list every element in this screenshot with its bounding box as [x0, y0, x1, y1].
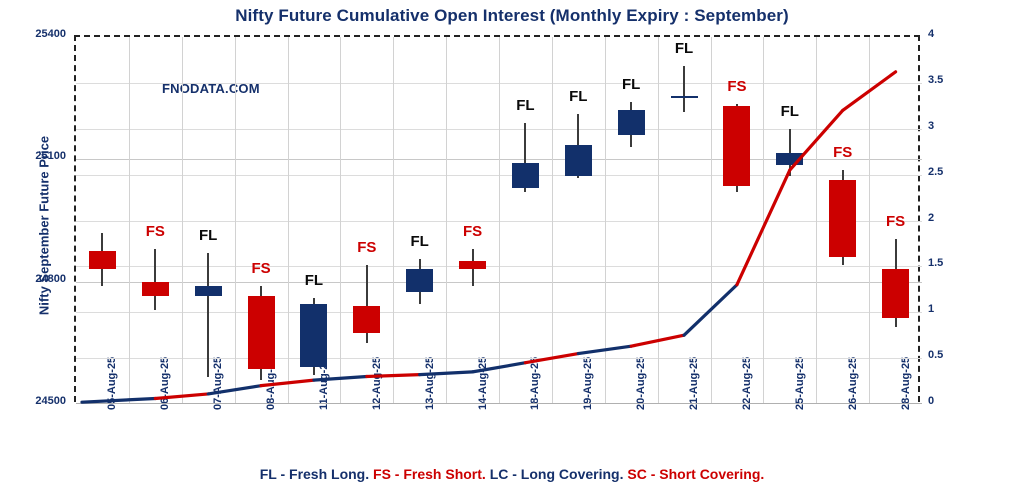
y-axis-right-tick: 2.5	[928, 166, 943, 178]
y-axis-right-tick: 4	[928, 28, 934, 40]
candle-tag-fl: FL	[606, 76, 656, 93]
oi-line-segment	[578, 346, 631, 353]
candle-tag-fs: FS	[236, 260, 286, 277]
candle-tag-fs: FS	[871, 213, 921, 230]
plot-area: FNODATA.COM FSFLFSFLFSFLFSFLFLFLFLFSFLFS…	[74, 35, 920, 402]
oi-line-segment	[684, 285, 737, 335]
open-interest-line-series	[76, 37, 922, 404]
candle-tag-fl: FL	[395, 233, 445, 250]
footer-legend-part: SC - Short Covering.	[627, 466, 764, 482]
y-axis-right-tick: 3.5	[928, 74, 943, 86]
candle-tag-fl: FL	[289, 272, 339, 289]
oi-line-segment	[843, 72, 896, 111]
candle-tag-fl: FL	[183, 227, 233, 244]
oi-line-segment	[737, 170, 790, 285]
candle-tag-fs: FS	[818, 144, 868, 161]
footer-legend-part: FS - Fresh Short.	[373, 466, 490, 482]
y-axis-right-tick: 0	[928, 395, 934, 407]
chart-root: Nifty Future Cumulative Open Interest (M…	[0, 0, 1024, 490]
y-axis-right-tick: 1	[928, 303, 934, 315]
candle-tag-fl: FL	[765, 103, 815, 120]
y-axis-left-tick: 25100	[2, 150, 66, 162]
candle-tag-fl: FL	[500, 97, 550, 114]
oi-line-segment	[261, 380, 314, 386]
y-axis-right-tick: 0.5	[928, 349, 943, 361]
y-axis-left-tick: 24500	[2, 395, 66, 407]
oi-line-segment	[208, 386, 261, 394]
footer-legend-part: LC - Long Covering.	[490, 466, 628, 482]
oi-line-segment	[473, 363, 526, 372]
y-axis-right-tick: 1.5	[928, 257, 943, 269]
oi-line-segment	[367, 375, 420, 377]
footer-legend-part: FL - Fresh Long.	[260, 466, 373, 482]
oi-line-segment	[82, 398, 155, 402]
y-axis-left-title: Nifty September Future Price	[37, 106, 52, 346]
candle-tag-fs: FS	[130, 223, 180, 240]
y-axis-right-tick: 2	[928, 212, 934, 224]
candle-tag-fs: FS	[342, 239, 392, 256]
oi-line-segment	[420, 372, 473, 375]
oi-line-segment	[155, 394, 208, 399]
y-axis-left-tick: 25400	[2, 28, 66, 40]
y-axis-left-tick: 24800	[2, 273, 66, 285]
oi-line-segment	[314, 376, 367, 380]
footer-legend: FL - Fresh Long. FS - Fresh Short. LC - …	[0, 466, 1024, 482]
oi-line-segment	[525, 354, 578, 363]
candle-tag-fl: FL	[659, 40, 709, 57]
oi-line-segment	[631, 335, 684, 346]
y-axis-right-tick: 3	[928, 120, 934, 132]
candle-tag-fs: FS	[448, 223, 498, 240]
candle-tag-fs: FS	[712, 78, 762, 95]
chart-title: Nifty Future Cumulative Open Interest (M…	[0, 6, 1024, 26]
candle-tag-fl: FL	[553, 88, 603, 105]
